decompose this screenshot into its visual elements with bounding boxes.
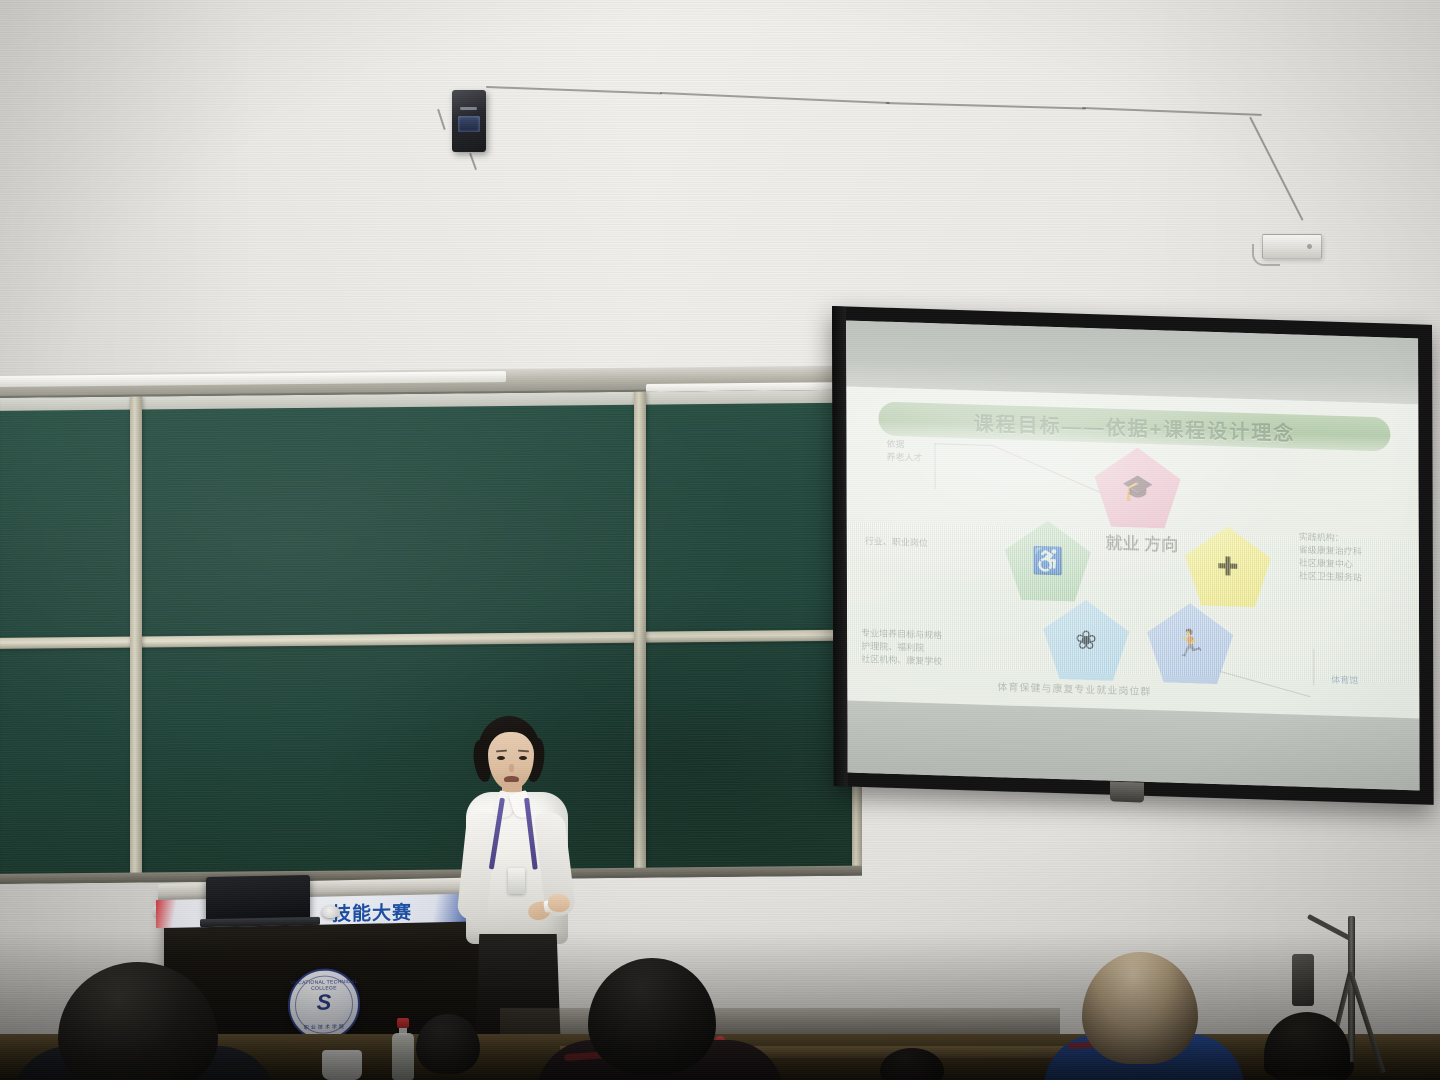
green-sliding-blackboard (0, 374, 862, 884)
medical-cross-icon: ✚ (1217, 551, 1239, 583)
pentagon-medical: ✚ (1185, 525, 1271, 608)
video-camera-icon (1292, 954, 1314, 1006)
seal-arc-bottom: 职 业 技 术 学 院 (290, 1023, 358, 1031)
classroom-photo: 课程目标——依据+课程设计理念 🎓 ♿ ✚ (0, 0, 1440, 1080)
graduation-cap-icon: 🎓 (1121, 472, 1153, 504)
board-vertical-frame (634, 392, 646, 878)
slide-note-top-left: 依据 养老人才 (886, 438, 922, 465)
pentagon-sports: 🏃 (1147, 602, 1233, 685)
screen-surface: 课程目标——依据+课程设计理念 🎓 ♿ ✚ (846, 320, 1420, 790)
board-vertical-frame (130, 397, 142, 883)
slide-note-bottom-right: 体育馆 (1331, 674, 1358, 688)
slide-caption: 体育保健与康复专业就业岗位群 (997, 681, 1151, 699)
camera-tripod (1290, 916, 1410, 1080)
wall-junction-box (1262, 234, 1322, 259)
device-display (458, 116, 480, 132)
slide-connector-line (1313, 649, 1314, 685)
projected-slide: 课程目标——依据+课程设计理念 🎓 ♿ ✚ (846, 386, 1419, 718)
audience-head (416, 1014, 480, 1074)
wireless-mic-receiver-icon (452, 90, 486, 152)
slide-center-label: 就业 方向 (1105, 533, 1179, 556)
pentagon-bloom: ❀ (1043, 599, 1129, 682)
wheelchair-accessible-icon: ♿ (1032, 545, 1064, 577)
flower-bloom-icon: ❀ (1075, 624, 1097, 656)
presenter-eye (519, 756, 527, 760)
slide-note-mid-left: 行业、职业岗位 (865, 535, 928, 550)
institution-seal: VOCATIONAL TECHNICAL COLLEGE S 职 业 技 术 学… (288, 968, 360, 1042)
presenter-id-badge (508, 868, 525, 894)
projection-screen: 课程目标——依据+课程设计理念 🎓 ♿ ✚ (832, 306, 1434, 805)
bottle-cap (397, 1018, 409, 1028)
pentagon-accessibility: ♿ (1005, 519, 1091, 602)
slide-note-bottom-left: 专业培养目标与规格 护理院、福利院 社区机构、康复学校 (861, 627, 942, 669)
slide-title-text: 课程目标——依据+课程设计理念 (973, 407, 1295, 446)
presenter-laptop (206, 875, 310, 921)
slide-connector-line (934, 443, 935, 489)
presenter-nose (509, 764, 514, 772)
board-horizontal-frame (0, 630, 862, 649)
computer-mouse (322, 906, 340, 918)
bottle-neck (399, 1027, 407, 1035)
slide-connector-line (934, 443, 992, 446)
outlet-port-icon (1307, 244, 1312, 249)
device-led (460, 107, 477, 110)
slide-connector-line (992, 445, 1104, 494)
bottle-body (392, 1033, 414, 1080)
running-person-icon: 🏃 (1174, 627, 1206, 659)
presenter-eye (497, 756, 505, 760)
screen-bottom-weight (1110, 781, 1144, 802)
slide-note-right: 实践机构： 省级康复治疗科 社区康复中心 社区卫生服务站 (1299, 531, 1362, 585)
seal-mark-icon: S (317, 989, 332, 1015)
slide-connector-line (1217, 670, 1310, 697)
paper-cup (322, 1050, 362, 1080)
board-surface (0, 390, 862, 884)
pentagon-graduation: 🎓 (1094, 446, 1180, 529)
banner-title: 技能大赛 (332, 898, 412, 927)
water-bottle (392, 1018, 414, 1080)
